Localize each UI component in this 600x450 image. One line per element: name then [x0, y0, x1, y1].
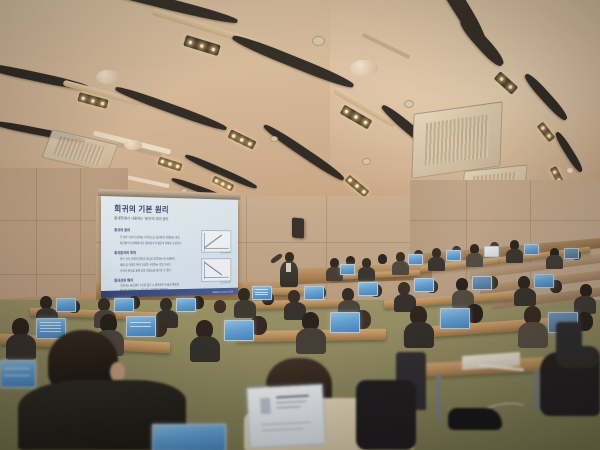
laptop[interactable] — [484, 246, 497, 255]
presentation-slide: 회귀의 기본 원리 통계학에서 사용하는 '회귀'의 의미 정리 회귀의 정의 … — [101, 196, 238, 298]
chart-axis-x — [204, 277, 229, 278]
wall-speaker — [292, 217, 304, 238]
spotlight-cluster — [183, 35, 221, 56]
slide-section-heading: 회귀선의 해석 — [114, 277, 133, 282]
laptop-screen — [152, 424, 226, 450]
smoke-detector-icon — [270, 136, 278, 142]
spotlight-cluster — [157, 156, 182, 171]
slide-chart-caption: 양의 상관관계 — [221, 252, 231, 255]
slide-chart-positive — [201, 230, 231, 253]
laptop[interactable] — [564, 248, 577, 257]
audience-torso — [466, 253, 483, 267]
laptop[interactable] — [0, 360, 34, 386]
hvac-vent — [411, 101, 502, 178]
laptop[interactable] — [524, 244, 537, 253]
desk-leg — [436, 374, 441, 420]
audience-head — [214, 300, 226, 313]
smoke-detector-icon — [362, 158, 371, 165]
smoke-detector-icon — [404, 100, 414, 108]
slide-bullet: 기울기는 독립변수 1단위 증가 시 종속변수의 평균 변화량 — [120, 282, 179, 287]
panel-seam — [410, 220, 600, 221]
chair-back — [556, 322, 582, 358]
laptop-screen — [252, 286, 272, 300]
laptop-screen — [524, 244, 539, 255]
laptop-screen — [414, 278, 434, 292]
laptop-screen — [304, 286, 324, 300]
audience-torso — [190, 336, 220, 362]
laptop[interactable] — [56, 298, 74, 310]
laptop[interactable] — [330, 312, 358, 331]
slide-title: 회귀의 기본 원리 — [114, 203, 169, 215]
audience-torso — [296, 328, 326, 354]
laptop[interactable] — [340, 264, 353, 273]
laptop-screen — [0, 360, 36, 388]
lecture-hall-photo: 회귀의 기본 원리 통계학에서 사용하는 '회귀'의 의미 정리 회귀의 정의 … — [0, 0, 600, 450]
presenter-hand — [267, 251, 272, 256]
laptop[interactable] — [358, 282, 376, 294]
slide-footer-text: Statistics Lecture 2024 — [212, 291, 233, 294]
laptop-screen — [446, 250, 461, 261]
slide-bullet: 변수 간의 관계의 방향과 강도를 파악하는 데 사용된다 — [120, 257, 175, 261]
laptop[interactable] — [446, 250, 459, 259]
laptop-screen — [440, 308, 470, 329]
slide-bullet: 두 변수 사이의 관계를 수학적으로 표현하여 설명하는 방법 — [120, 235, 180, 239]
ceiling-speaker — [350, 60, 378, 76]
chart-trend-line — [205, 262, 222, 275]
laptop[interactable] — [252, 286, 270, 298]
audience-torso — [506, 249, 523, 263]
spotlight-cluster — [227, 129, 256, 149]
laptop[interactable] — [247, 384, 324, 446]
slide-subtitle: 통계학에서 사용하는 '회귀'의 의미 정리 — [114, 217, 168, 223]
laptop-thumbnail — [260, 398, 271, 414]
laptop-screen — [56, 298, 76, 312]
laptop-screen — [176, 298, 196, 312]
laptop-screen — [340, 264, 355, 275]
laptop-screen — [534, 274, 554, 288]
laptop-screen — [358, 282, 378, 296]
slide-chart-negative — [201, 258, 231, 281]
laptop[interactable] — [304, 286, 322, 298]
laptop-screen — [330, 312, 360, 333]
ceiling-light-strip — [114, 84, 228, 133]
laptop-screen — [472, 276, 492, 290]
slide-section-heading: 회귀분석의 목적 — [114, 250, 136, 255]
laptop-screen — [484, 246, 499, 257]
audience-torso — [518, 322, 548, 348]
audience-torso — [234, 300, 256, 318]
laptop[interactable] — [152, 424, 224, 450]
chart-axis-x — [204, 248, 229, 249]
laptop[interactable] — [176, 298, 194, 310]
attendee-legs — [356, 380, 416, 450]
ceiling-speaker — [124, 140, 142, 150]
laptop-screen — [247, 384, 326, 448]
laptop[interactable] — [414, 278, 432, 290]
laptop[interactable] — [114, 298, 132, 310]
ceiling-light-strip — [61, 0, 238, 27]
laptop[interactable] — [408, 254, 421, 263]
slide-section-heading: 회귀의 정의 — [114, 227, 130, 232]
laptop[interactable] — [534, 274, 552, 286]
laptop-screen — [408, 254, 423, 265]
laptop-screen — [564, 248, 579, 259]
audience-torso — [404, 322, 434, 348]
slide-bullet: 잔차의 분포를 통해 모형 적합도를 평가할 수 있다 — [120, 269, 171, 274]
slide-chart-caption: 음의 상관관계 — [221, 281, 231, 284]
audience-torso — [428, 257, 445, 271]
audience-torso — [392, 261, 409, 275]
presenter-shirt — [286, 263, 291, 272]
foreground-attendee-ear — [110, 362, 125, 382]
laptop[interactable] — [472, 276, 490, 288]
laptop-screen — [114, 298, 134, 312]
chart-trend-line — [205, 235, 222, 248]
projection-screen: 회귀의 기본 원리 통계학에서 사용하는 '회귀'의 의미 정리 회귀의 정의 … — [101, 196, 238, 298]
laptop-screen — [224, 320, 254, 341]
ceiling-downlight — [566, 168, 574, 173]
ceiling-speaker — [96, 70, 120, 84]
attendee-shoe — [448, 408, 502, 430]
slide-bullet: 독립변수의 변화에 따른 종속변수의 평균적 변화를 추정한다 — [120, 241, 181, 245]
audience-torso — [514, 288, 536, 306]
desk-leg — [534, 370, 539, 410]
audience-torso — [546, 255, 563, 269]
slide-bullet: 예측 및 설명을 위한 모형을 구성하는 기초가 된다 — [120, 263, 171, 267]
laptop[interactable] — [224, 320, 252, 339]
laptop[interactable] — [440, 308, 468, 327]
audience-head — [378, 254, 387, 264]
smoke-detector-icon — [312, 36, 325, 46]
audience-torso — [358, 267, 375, 281]
